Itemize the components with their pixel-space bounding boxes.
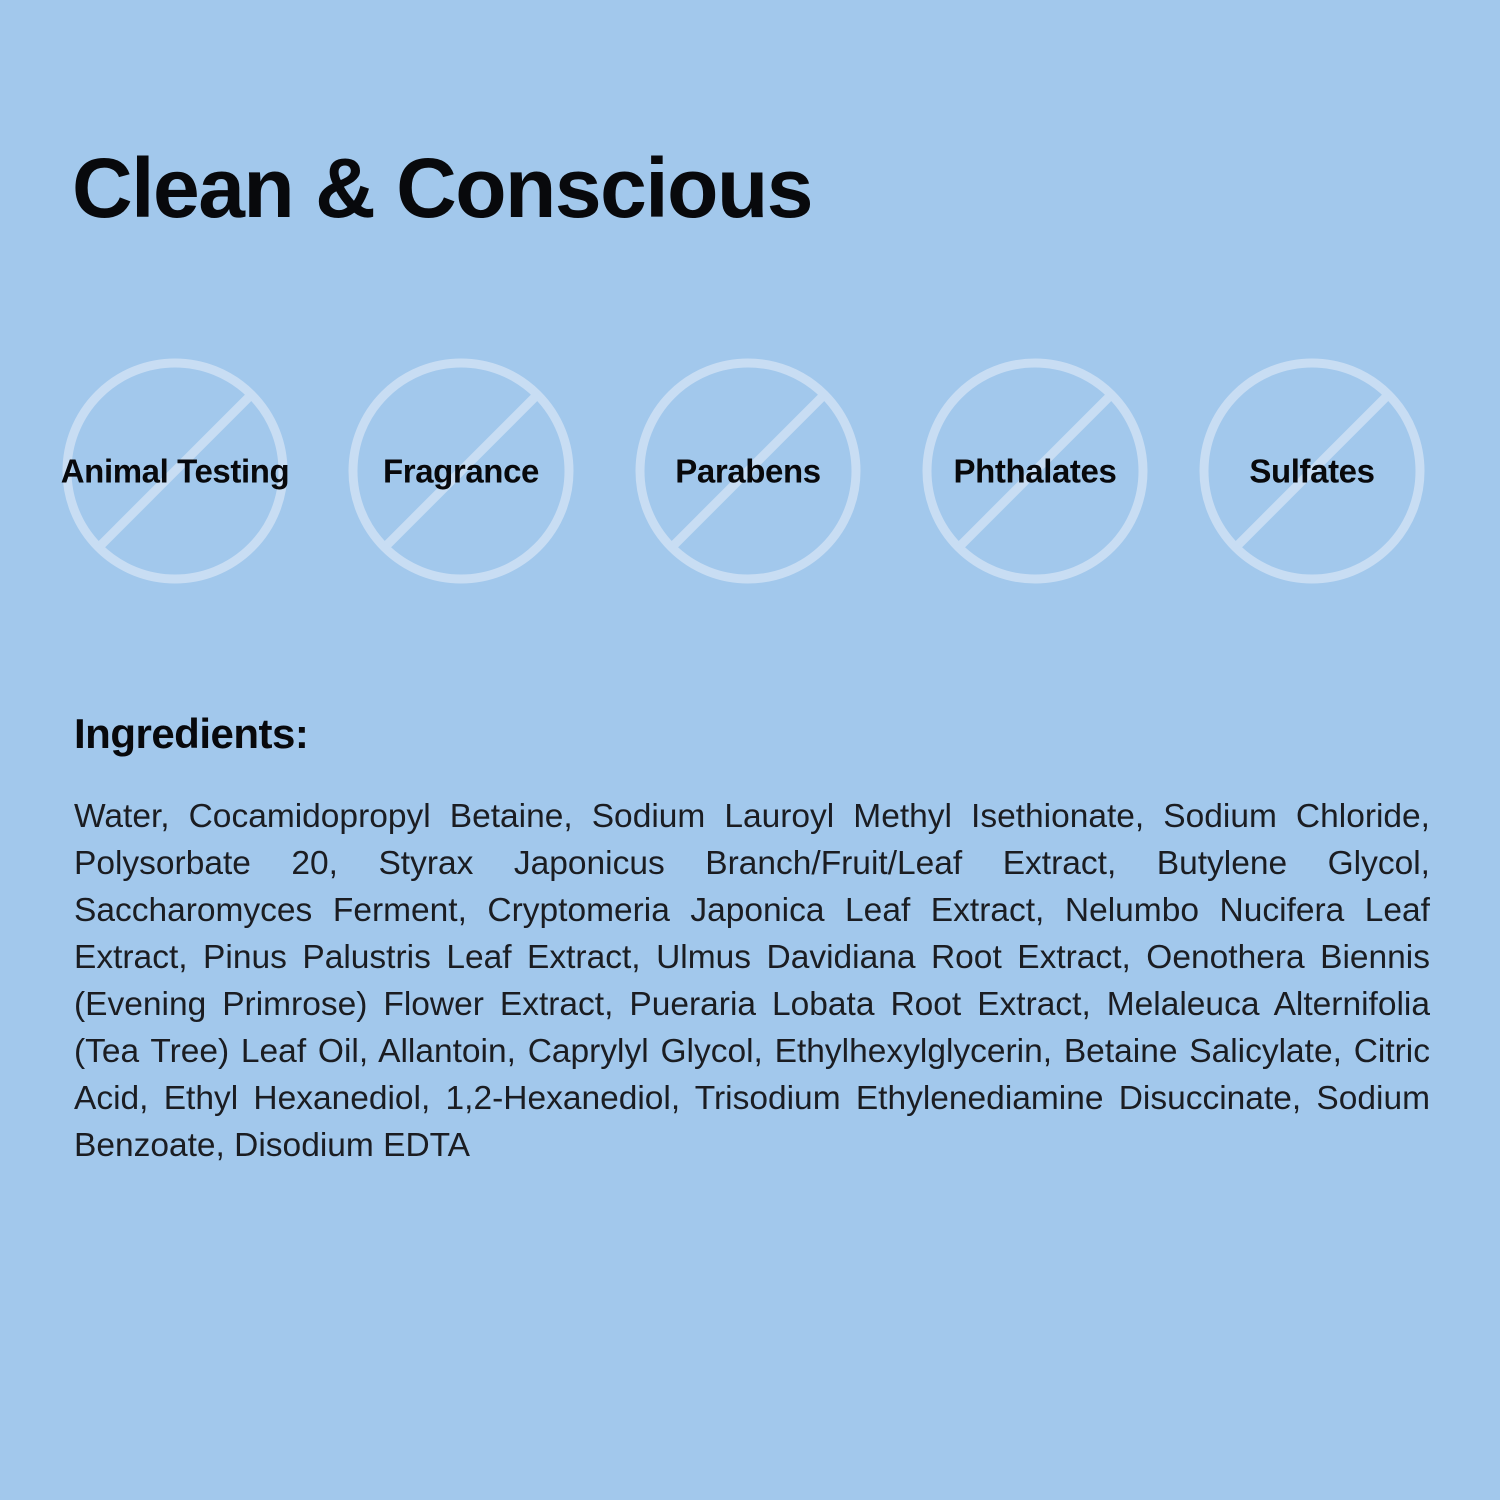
badge-fragrance: Fragrance bbox=[348, 358, 574, 584]
product-claims-panel: Clean & Conscious Animal Testing Fragran… bbox=[0, 0, 1500, 1500]
no-symbol-icon bbox=[1199, 358, 1425, 584]
free-from-badge-row: Animal Testing Fragrance Parabens Phthal… bbox=[0, 358, 1500, 584]
page-title: Clean & Conscious bbox=[72, 146, 812, 230]
badge-animal-testing: Animal Testing bbox=[62, 358, 288, 584]
ingredients-list: Water, Cocamidopropyl Betaine, Sodium La… bbox=[74, 793, 1430, 1169]
no-symbol-icon bbox=[62, 358, 288, 584]
badge-phthalates: Phthalates bbox=[922, 358, 1148, 584]
badge-sulfates: Sulfates bbox=[1199, 358, 1425, 584]
no-symbol-icon bbox=[348, 358, 574, 584]
badge-parabens: Parabens bbox=[635, 358, 861, 584]
ingredients-heading: Ingredients: bbox=[74, 713, 308, 755]
no-symbol-icon bbox=[922, 358, 1148, 584]
no-symbol-icon bbox=[635, 358, 861, 584]
